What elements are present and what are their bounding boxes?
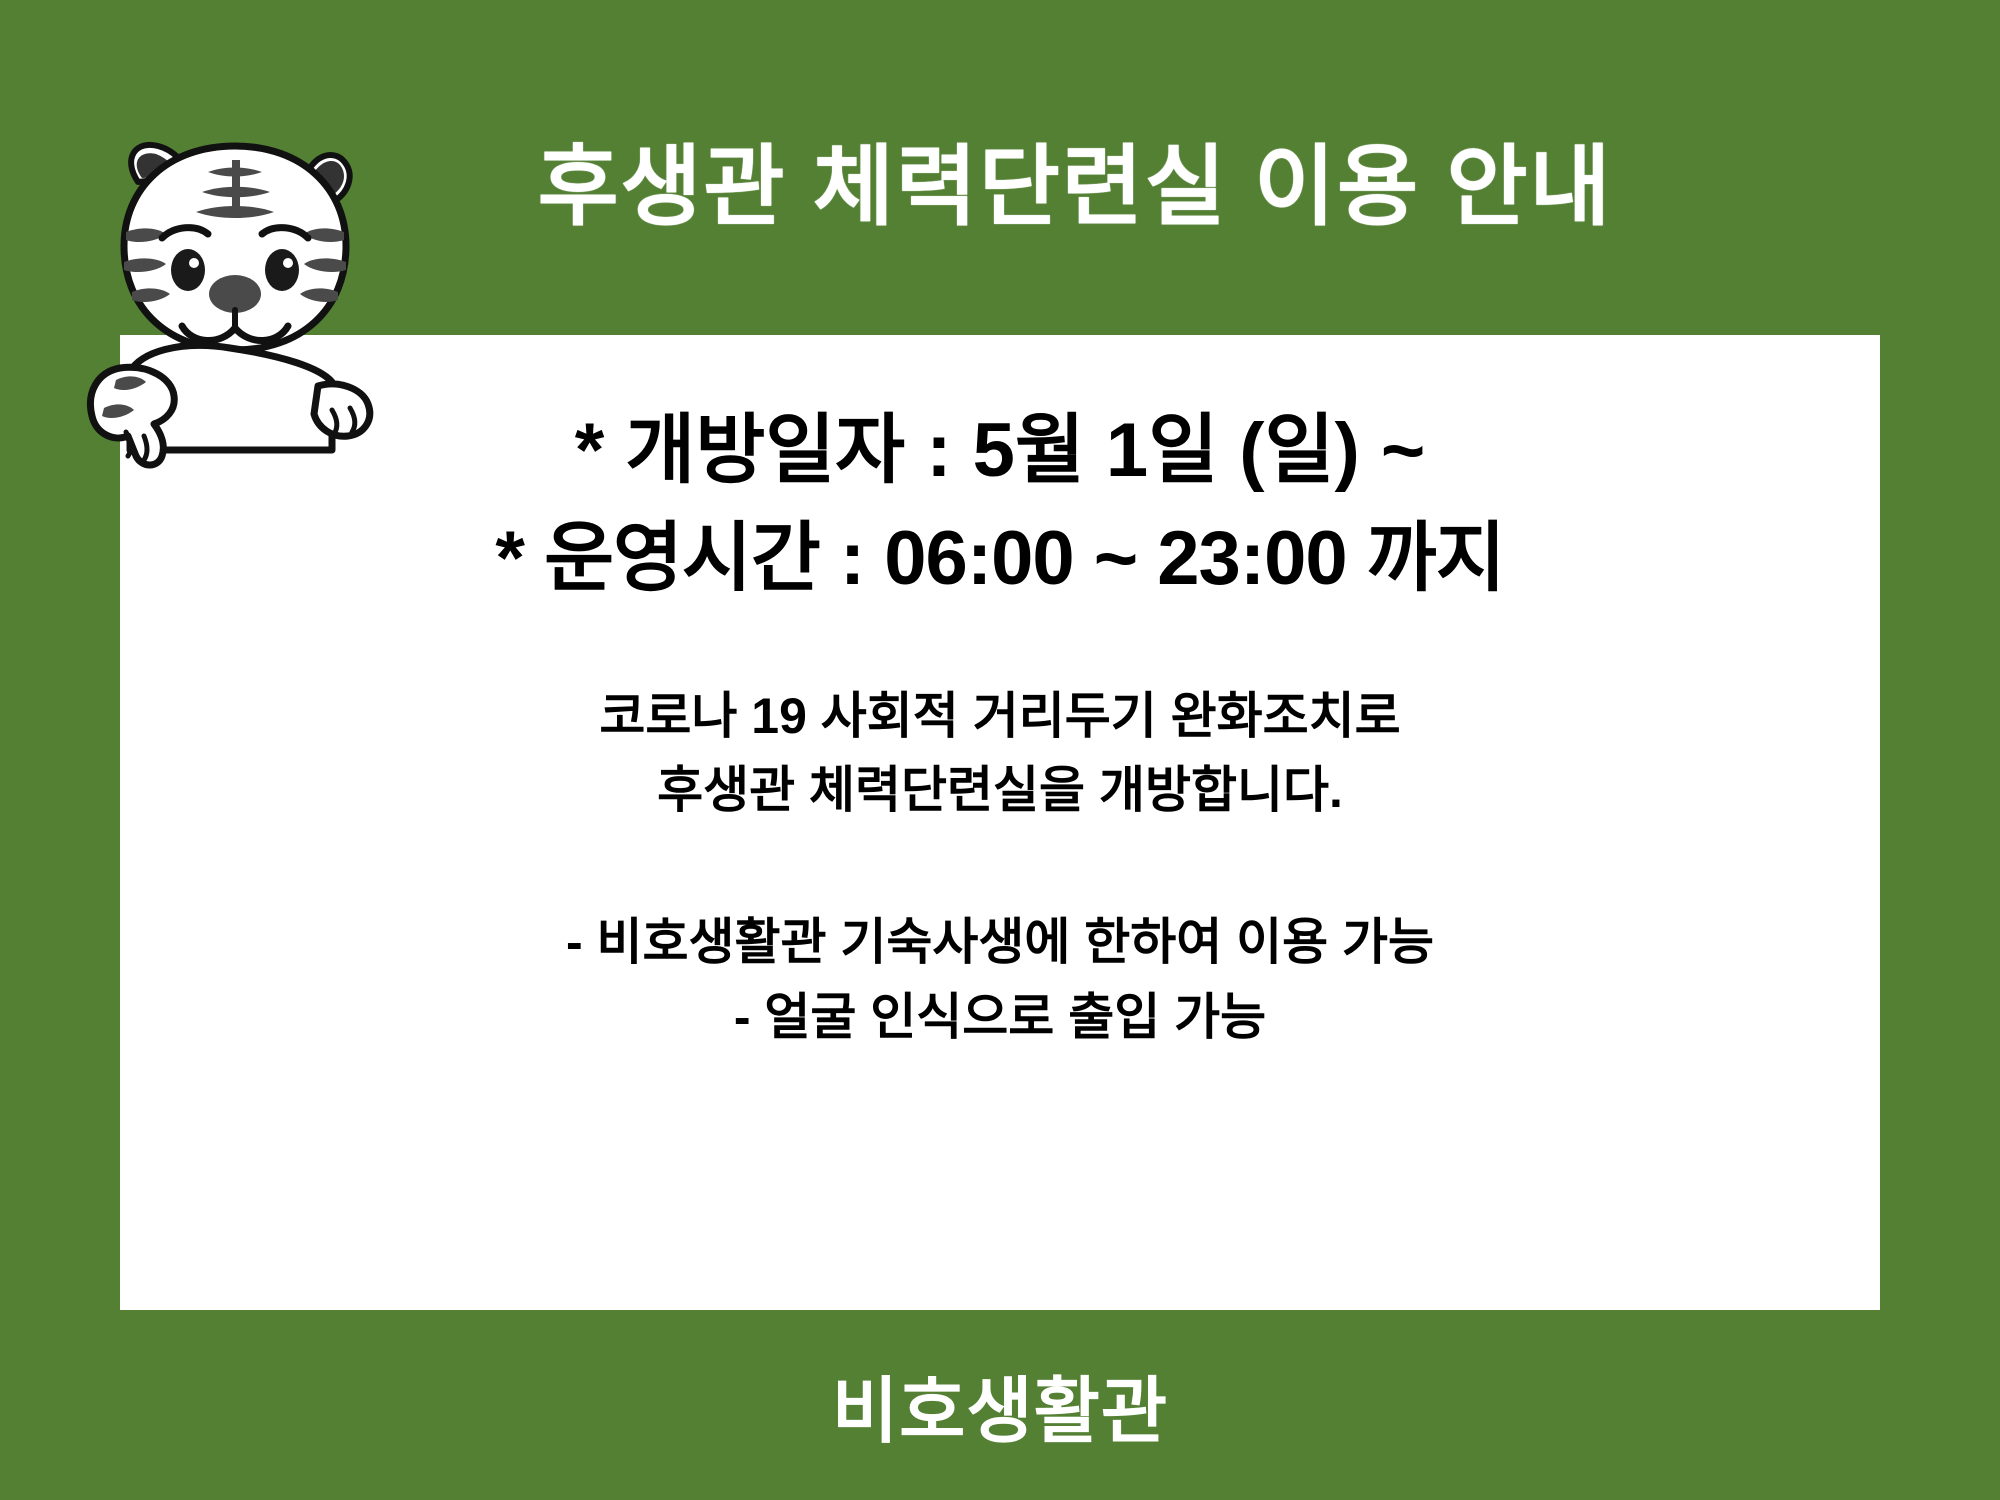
- notice-paragraph: 코로나 19 사회적 거리두기 완화조치로 후생관 체력단련실을 개방합니다.: [599, 679, 1400, 827]
- notice-paragraph-line-1: 코로나 19 사회적 거리두기 완화조치로: [599, 679, 1400, 753]
- notice-headline-operating-hours: * 운영시간 : 06:00 ~ 23:00 까지: [495, 505, 1504, 613]
- footer-organization-name: 비호생활관: [832, 1372, 1168, 1452]
- page-title: 후생관 체력단련실 이용 안내: [538, 143, 1613, 231]
- notice-panel: * 개방일자 : 5월 1일 (일) ~ * 운영시간 : 06:00 ~ 23…: [120, 335, 1880, 1310]
- title-row: 후생관 체력단련실 이용 안내: [0, 132, 2000, 242]
- notice-bullets: - 비호생활관 기숙사생에 한하여 이용 가능 - 얼굴 인식으로 출입 가능: [566, 905, 1434, 1055]
- notice-bullet-face-recognition: - 얼굴 인식으로 출입 가능: [566, 980, 1434, 1055]
- poster-root: 후생관 체력단련실 이용 안내: [0, 0, 2000, 1500]
- notice-panel-content: * 개방일자 : 5월 1일 (일) ~ * 운영시간 : 06:00 ~ 23…: [120, 335, 1880, 1310]
- notice-paragraph-line-2: 후생관 체력단련실을 개방합니다.: [599, 753, 1400, 827]
- notice-headline-open-date: * 개방일자 : 5월 1일 (일) ~: [575, 397, 1426, 505]
- notice-bullet-residents-only: - 비호생활관 기숙사생에 한하여 이용 가능: [566, 905, 1434, 980]
- footer: 비호생활관: [0, 1352, 2000, 1457]
